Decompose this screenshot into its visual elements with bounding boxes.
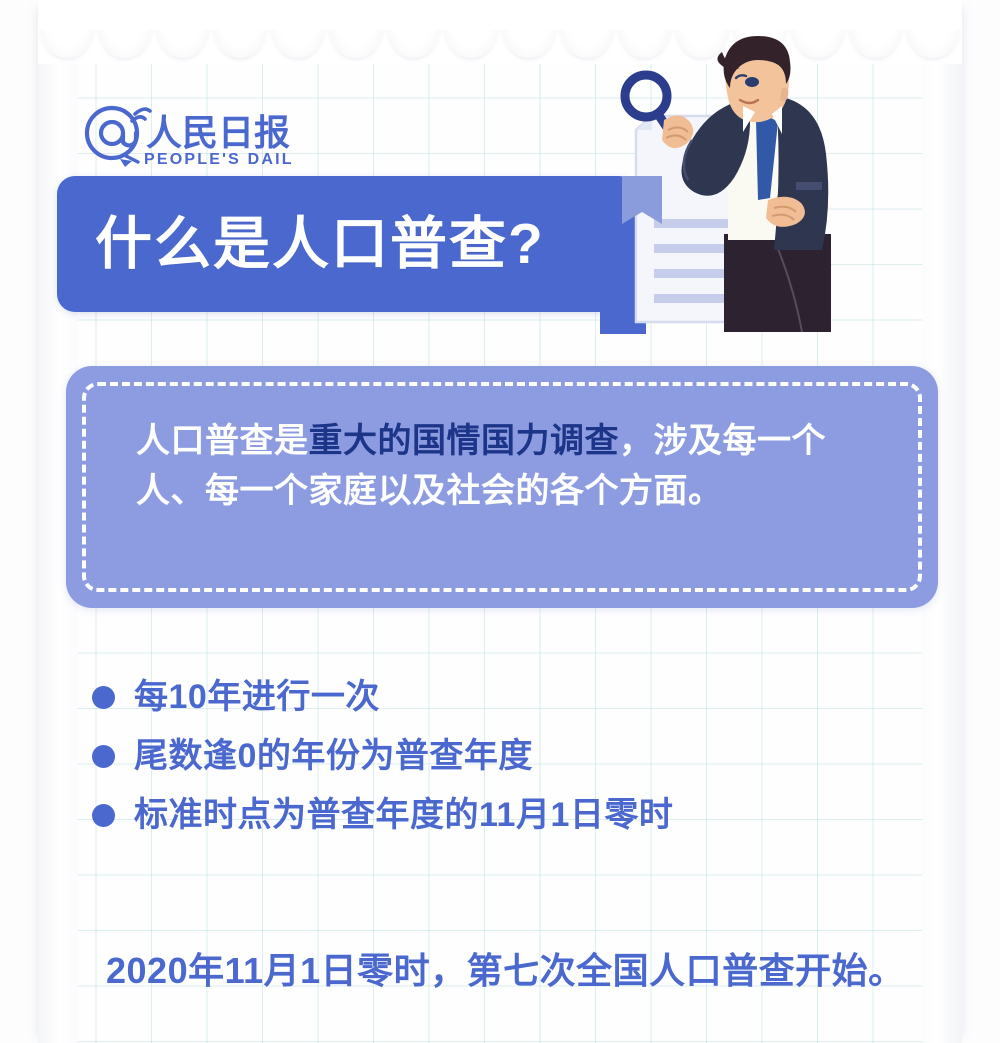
cuff [796, 182, 822, 190]
peoples-daily-logo: 人民日报 PEOPLE'S DAILY [82, 103, 292, 169]
scallop-top-cover [38, 0, 962, 30]
hero-illustration [600, 34, 900, 334]
at-sign-megaphone-icon [87, 108, 150, 167]
dot-icon [92, 686, 115, 709]
callout-text-before: 人口普查是 [136, 422, 309, 460]
list-item-label: 每10年进行一次 [134, 680, 380, 714]
dot-icon [92, 804, 115, 827]
callout-box: 人口普查是重大的国情国力调查，涉及每一个人、每一个家庭以及社会的各个方面。 [66, 366, 938, 608]
footer-statement: 2020年11月1日零时，第七次全国人口普查开始。 [106, 942, 905, 994]
page-title: 什么是人口普查? [95, 216, 545, 273]
list-item: 尾数逢0的年份为普查年度 [92, 735, 852, 777]
callout-highlight: 重大的国情国力调查 [309, 422, 620, 460]
page-title-banner: 什么是人口普查? [57, 176, 637, 312]
facts-list: 每10年进行一次 尾数逢0的年份为普查年度 标准时点为普查年度的11月1日零时 [92, 676, 852, 853]
list-item-label: 标准时点为普查年度的11月1日零时 [134, 798, 673, 832]
infographic-page: 人民日报 PEOPLE'S DAILY 什么是人口普查? [0, 0, 1000, 1043]
list-item: 每10年进行一次 [92, 676, 852, 718]
eye [745, 77, 759, 87]
callout-text: 人口普查是重大的国情国力调查，涉及每一个人、每一个家庭以及社会的各个方面。 [136, 416, 876, 517]
dot-icon [92, 745, 115, 768]
logo-name-en: PEOPLE'S DAILY [144, 151, 292, 168]
list-item: 标准时点为普查年度的11月1日零时 [92, 794, 852, 836]
list-item-label: 尾数逢0的年份为普查年度 [134, 739, 533, 773]
logo-name-cn: 人民日报 [146, 112, 290, 153]
